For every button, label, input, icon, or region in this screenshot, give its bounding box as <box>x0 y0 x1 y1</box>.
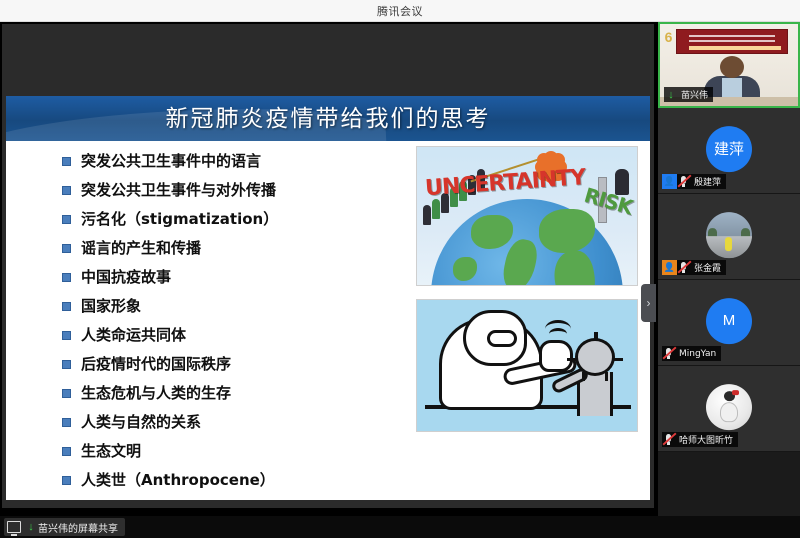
participant-nameplate: 👤 张金霞 <box>662 260 726 275</box>
presentation-slide: 新冠肺炎疫情带给我们的思考 突发公共卫生事件中的语言 突发公共卫生事件与对外传播 <box>6 96 650 500</box>
virus-head <box>575 338 615 376</box>
list-item: 突发公共卫生事件中的语言 <box>62 149 392 174</box>
slide-frame: 新冠肺炎疫情带给我们的思考 突发公共卫生事件中的语言 突发公共卫生事件与对外传播 <box>2 24 654 508</box>
slide-image-uncertainty-risk: UNCERTAINTY RISK <box>416 146 638 286</box>
list-item: 国家形象 <box>62 294 392 319</box>
list-item: 后疫情时代的国际秩序 <box>62 352 392 377</box>
mic-muted-icon <box>677 260 691 275</box>
virus-spike <box>605 372 608 381</box>
slide-title: 新冠肺炎疫情带给我们的思考 <box>6 96 650 141</box>
bullet-text: 后疫情时代的国际秩序 <box>81 352 231 376</box>
person-figure <box>432 199 440 219</box>
clenched-fist <box>539 340 573 372</box>
participant-name: 哈师大图昕竹 <box>679 433 733 446</box>
conference-banner <box>676 29 788 54</box>
participant-name: MingYan <box>679 349 716 359</box>
slide-body: 突发公共卫生事件中的语言 突发公共卫生事件与对外传播 污名化（stigmatiz… <box>6 141 650 500</box>
participant-name: 苗兴伟 <box>681 88 708 101</box>
participant-nameplate: MingYan <box>662 346 721 361</box>
sidebar-collapse-handle[interactable]: › <box>641 284 656 322</box>
window-title-strip: 腾讯会议 <box>0 0 800 22</box>
app-title: 腾讯会议 <box>0 3 800 19</box>
participant-tile-last[interactable]: 哈师大图昕竹 <box>658 366 800 452</box>
virus-spike <box>582 372 585 381</box>
participant-tile-presenter[interactable]: 6 ↓ 苗兴伟 <box>658 22 800 108</box>
mic-base <box>667 442 670 445</box>
list-item: 人类命运共同体 <box>62 323 392 348</box>
shared-screen-stage[interactable]: 新冠肺炎疫情带给我们的思考 突发公共卫生事件中的语言 突发公共卫生事件与对外传播 <box>0 22 658 516</box>
mic-muted-icon <box>662 432 676 447</box>
mic-base <box>682 184 685 187</box>
continent-shape <box>453 257 477 281</box>
bullet-square-icon <box>62 215 71 224</box>
virus-spike <box>614 358 623 361</box>
bullet-text: 生态危机与人类的生存 <box>81 381 231 405</box>
bullet-text: 人类世（Anthropocene） <box>81 468 275 492</box>
bullet-text: 生态文明 <box>81 439 141 463</box>
participant-nameplate: 哈师大图昕竹 <box>662 432 738 447</box>
bullet-square-icon <box>62 476 71 485</box>
list-item: 突发公共卫生事件与对外传播 <box>62 178 392 203</box>
continent-shape <box>539 209 595 253</box>
participant-sidebar[interactable]: 6 ↓ 苗兴伟 建萍 👤 殷 <box>658 22 800 538</box>
screen-share-label: 苗兴伟的屏幕共享 <box>38 520 118 535</box>
banner-line <box>689 35 775 37</box>
user-badge-icon: 👤 <box>662 174 677 189</box>
avatar-initials: 建萍 <box>714 138 744 159</box>
bullet-text: 中国抗疫故事 <box>81 265 171 289</box>
mic-base <box>667 356 670 359</box>
avatar <box>706 212 752 258</box>
slide-bullet-list: 突发公共卫生事件中的语言 突发公共卫生事件与对外传播 污名化（stigmatiz… <box>62 149 392 497</box>
banner-line <box>689 46 781 50</box>
participant-nameplate: 👤 殷建萍 <box>662 174 726 189</box>
avatar: M <box>706 298 752 344</box>
download-arrow-icon: ↓ <box>24 520 38 534</box>
banner-line <box>689 40 775 42</box>
bullet-square-icon <box>62 447 71 456</box>
list-item: 生态文明 <box>62 439 392 464</box>
continent-shape <box>550 248 599 286</box>
person-figure <box>423 205 431 225</box>
bullet-text: 谣言的产生和传播 <box>81 236 201 260</box>
list-item: 谣言的产生和传播 <box>62 236 392 261</box>
virus-spike <box>567 358 576 361</box>
avatar-person <box>725 237 732 251</box>
list-item: 人类世（Anthropocene） <box>62 468 392 493</box>
list-item: 生态危机与人类的生存 <box>62 381 392 406</box>
bullet-square-icon <box>62 244 71 253</box>
participant-name: 张金霞 <box>694 261 721 274</box>
participant-nameplate: ↓ 苗兴伟 <box>664 87 713 102</box>
bullet-square-icon <box>62 273 71 282</box>
monitor-icon <box>7 521 21 533</box>
bullet-text: 人类命运共同体 <box>81 323 186 347</box>
avatar <box>706 384 752 430</box>
participant-tile-yinjianping[interactable]: 建萍 👤 殷建萍 <box>658 108 800 194</box>
avatar-initials: M <box>723 312 736 329</box>
participant-name: 殷建萍 <box>694 175 721 188</box>
download-arrow-icon: ↓ <box>664 88 678 102</box>
mic-muted-icon <box>662 346 676 361</box>
motion-line <box>549 328 567 340</box>
bullet-text: 国家形象 <box>81 294 141 318</box>
bullet-square-icon <box>62 331 71 340</box>
list-item: 污名化（stigmatization） <box>62 207 392 232</box>
participant-tile-mingyan[interactable]: M MingYan <box>658 280 800 366</box>
slide-top-band <box>2 24 654 96</box>
bullet-text: 污名化（stigmatization） <box>81 207 278 231</box>
bullet-square-icon <box>62 360 71 369</box>
screen-share-indicator[interactable]: ↓ 苗兴伟的屏幕共享 <box>4 518 125 536</box>
list-item: 人类与自然的关系 <box>62 410 392 435</box>
host-badge-icon: 👤 <box>662 260 677 275</box>
continent-shape <box>500 236 540 286</box>
list-item: 中国抗疫故事 <box>62 265 392 290</box>
bullet-square-icon <box>62 186 71 195</box>
bottom-status-bar: ↓ 苗兴伟的屏幕共享 <box>0 516 800 538</box>
goggles-icon <box>487 330 517 347</box>
bullet-square-icon <box>62 157 71 166</box>
participant-tile-zhangjinxia[interactable]: 👤 张金霞 <box>658 194 800 280</box>
mic-base <box>682 270 685 273</box>
bullet-square-icon <box>62 302 71 311</box>
avatar: 建萍 <box>706 126 752 172</box>
bullet-text: 人类与自然的关系 <box>81 410 201 434</box>
bullet-square-icon <box>62 418 71 427</box>
presenter-head <box>720 56 744 78</box>
meeting-window: 腾讯会议 新冠肺炎疫情带给我们的思考 突发公共卫生事件中的语言 <box>0 0 800 538</box>
avatar-dress <box>720 402 738 422</box>
bullet-text: 突发公共卫生事件中的语言 <box>81 149 261 173</box>
bullet-square-icon <box>62 389 71 398</box>
slide-title-bar: 新冠肺炎疫情带给我们的思考 <box>6 96 650 141</box>
mic-muted-icon <box>677 174 691 189</box>
bullet-text: 突发公共卫生事件与对外传播 <box>81 178 276 202</box>
avatar-bow <box>732 390 739 395</box>
chevron-right-icon: › <box>647 296 651 310</box>
anniversary-logo-icon: 6 <box>662 28 675 46</box>
slide-image-doctor-vs-virus <box>416 299 638 432</box>
